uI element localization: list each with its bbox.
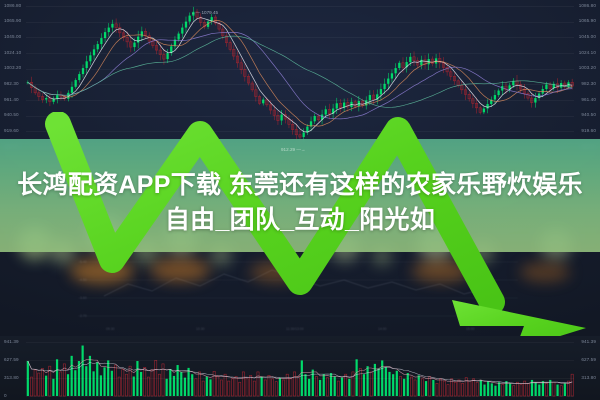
volume-bar [52, 379, 54, 396]
volume-bar [209, 379, 211, 396]
gridline [26, 22, 574, 23]
headline-line-1: 长鸿配资APP下载 东莞还有这样的农家乐野炊娱乐 [17, 171, 583, 199]
candle-body [497, 91, 499, 95]
volume-bar [187, 368, 189, 396]
price-tick-right: 1065.90 [579, 19, 596, 24]
gridline [26, 116, 574, 117]
volume-bar [114, 365, 116, 396]
volume-bar [366, 366, 368, 396]
volume-bar [319, 380, 321, 396]
candle-body [111, 24, 113, 28]
candle-body [380, 89, 382, 94]
volume-bar [509, 383, 511, 396]
price-tick-right: 1086.80 [579, 4, 596, 9]
svg-text:15:00: 15:00 [466, 327, 475, 331]
svg-text:09:30: 09:30 [106, 327, 115, 331]
page-title: 长鸿配资APP下载 东莞还有这样的农家乐野炊娱乐 自由_团队_互动_阳光如 [0, 168, 600, 238]
price-tick-left: 982.30 [4, 82, 19, 87]
volume-bar [275, 382, 277, 396]
volume-tick-left: 313.80 [4, 376, 19, 381]
gridline [26, 360, 574, 361]
price-tick-left: 1086.80 [4, 4, 21, 9]
price-tick-right: 1024.10 [579, 51, 596, 56]
volume-bar [253, 381, 255, 396]
volume-tick-right: 313.80 [581, 376, 596, 381]
volume-bar [337, 381, 339, 396]
volume-bar [458, 380, 460, 396]
volume-tick-left: 627.59 [4, 358, 19, 363]
price-tick-right: 940.50 [581, 113, 596, 118]
volume-ma-line [28, 361, 572, 383]
volume-bar [494, 386, 496, 396]
bokeh-blob [70, 258, 134, 284]
price-tick-left: 1065.90 [4, 19, 21, 24]
volume-bar [242, 372, 244, 396]
volume-bar [231, 379, 233, 396]
volume-bar [385, 367, 387, 396]
volume-bar [348, 379, 350, 396]
volume-bar [38, 373, 40, 396]
volume-bar [206, 376, 208, 396]
volume-bar [436, 383, 438, 396]
volume-bar [440, 379, 442, 396]
gridline [26, 396, 574, 397]
volume-bar [410, 377, 412, 396]
volume-bar [527, 383, 529, 396]
gridline [26, 342, 574, 343]
svg-text:11:30/13:00: 11:30/13:00 [286, 327, 304, 331]
volume-bar [118, 377, 120, 396]
volume-bar [476, 382, 478, 396]
volume-bar [151, 370, 153, 396]
volume-bar [407, 373, 409, 396]
price-tick-left: 1024.10 [4, 51, 21, 56]
volume-bar [469, 381, 471, 396]
volume-bar [177, 365, 179, 396]
volume-ma-line [28, 360, 572, 384]
moving-average-line [28, 21, 572, 127]
volume-bar [202, 381, 204, 396]
volume-bar [144, 367, 146, 396]
volume-bar [103, 367, 105, 396]
volume-bar [498, 382, 500, 396]
gridline [26, 100, 574, 101]
candle-body [486, 104, 488, 108]
volume-bar [60, 372, 62, 396]
volume-bar [538, 385, 540, 396]
volume-bar [399, 376, 401, 396]
volume-bar [261, 376, 263, 396]
svg-text:2.70: 2.70 [80, 314, 87, 318]
candle-body [391, 73, 393, 78]
volume-bar [308, 379, 310, 396]
candle-body [133, 43, 135, 47]
headline-line-2: 自由_团队_互动_阳光如 [0, 203, 600, 238]
volume-bar [315, 376, 317, 396]
screenshot-root: 1086.801065.901045.001024.101003.20982.3… [0, 0, 600, 400]
volume-bar [293, 372, 295, 396]
price-tick-right: 1045.00 [579, 35, 596, 40]
candle-body [494, 95, 496, 99]
candle-body [100, 38, 102, 44]
svg-text:3.60: 3.60 [80, 296, 87, 300]
gridline [26, 37, 574, 38]
volume-bar [513, 386, 515, 396]
volume-bar [264, 380, 266, 396]
moving-average-line [28, 36, 572, 107]
annotation-low: 912.29 —→ [281, 148, 306, 153]
candle-body [97, 44, 99, 49]
gridline [26, 6, 574, 7]
candle-body [181, 28, 183, 34]
volume-bar [403, 379, 405, 396]
volume-tick-left: 0 [4, 394, 7, 399]
price-tick-left: 1045.00 [4, 35, 21, 40]
candle-body [89, 55, 91, 61]
volume-bar [312, 370, 314, 396]
volume-bar [520, 385, 522, 396]
volume-bar [425, 381, 427, 396]
volume-tick-left: 941.39 [4, 340, 19, 345]
volume-bar [472, 379, 474, 396]
volume-bar [429, 376, 431, 396]
volume-bar [279, 378, 281, 396]
volume-bar [560, 386, 562, 396]
price-tick-right: 982.30 [581, 82, 596, 87]
volume-bar [133, 376, 135, 396]
volume-bar [34, 370, 36, 396]
volume-chart-panel: 941.39627.59313.800 941.39627.59313.80 [0, 336, 600, 400]
volume-bar [195, 379, 197, 396]
volume-bar [272, 379, 274, 396]
volume-bar [290, 379, 292, 396]
price-tick-right: 1003.20 [579, 66, 596, 71]
annotation-high: ←— 1079.45 [191, 11, 218, 16]
volume-bar [480, 380, 482, 396]
volume-bar [30, 377, 32, 396]
volume-bar [447, 385, 449, 396]
volume-bar [180, 372, 182, 396]
volume-bar [388, 372, 390, 396]
candle-body [78, 74, 80, 80]
volume-bar [535, 382, 537, 396]
candle-body [71, 87, 73, 93]
volume-bar [82, 346, 84, 396]
volume-bar [443, 381, 445, 396]
volume-bar [553, 382, 555, 396]
volume-bar [334, 376, 336, 396]
candle-body [141, 31, 143, 36]
volume-bar [414, 380, 416, 396]
volume-bar [220, 380, 222, 396]
volume-bar [166, 379, 168, 396]
price-chart-panel: 1086.801065.901045.001024.101003.20982.3… [0, 0, 600, 155]
volume-bar [491, 383, 493, 396]
volume-bar [564, 383, 566, 396]
volume-bar [235, 376, 237, 396]
volume-bar [396, 371, 398, 396]
volume-bar [140, 372, 142, 396]
bokeh-blob [412, 260, 470, 282]
candle-body [314, 116, 316, 121]
candle-body [336, 103, 338, 108]
volume-bar [359, 368, 361, 396]
volume-bar [556, 385, 558, 396]
volume-tick-right: 941.39 [581, 340, 596, 345]
volume-bar [246, 379, 248, 396]
volume-bar [89, 356, 91, 396]
volume-bar [542, 381, 544, 396]
volume-bar [92, 371, 94, 396]
bokeh-blob [520, 262, 570, 282]
candle-body [325, 109, 327, 114]
volume-bar [96, 362, 98, 396]
volume-bar [74, 370, 76, 396]
volume-bar [71, 356, 73, 396]
volume-bar-series [0, 336, 600, 400]
volume-bar [228, 381, 230, 396]
candle-body [398, 63, 400, 68]
candle-body [86, 61, 88, 68]
volume-bar [487, 381, 489, 396]
volume-bar [516, 382, 518, 396]
volume-bar [483, 385, 485, 396]
volume-bar [297, 376, 299, 396]
volume-bar [282, 380, 284, 396]
price-tick-left: 961.40 [4, 98, 19, 103]
volume-bar [198, 372, 200, 396]
candle-body [409, 57, 411, 62]
bokeh-blob [250, 262, 304, 282]
volume-bar [326, 378, 328, 396]
volume-bar [147, 377, 149, 396]
volume-bar [184, 378, 186, 396]
price-tick-right: 961.40 [581, 98, 596, 103]
volume-tick-right: 627.59 [581, 358, 596, 363]
svg-text:14:00: 14:00 [378, 327, 387, 331]
volume-bar [41, 368, 43, 396]
volume-bar [122, 370, 124, 396]
volume-bar [341, 378, 343, 396]
price-tick-left: 1003.20 [4, 66, 21, 71]
price-tick-left: 919.60 [4, 129, 19, 134]
volume-bar [502, 385, 504, 396]
volume-bar [461, 383, 463, 396]
volume-bar [432, 380, 434, 396]
gridline [26, 69, 574, 70]
volume-bar [239, 382, 241, 396]
candle-body [387, 79, 389, 84]
gridline [26, 378, 574, 379]
volume-bar [377, 368, 379, 396]
bokeh-blob [150, 258, 210, 282]
gridline [26, 53, 574, 54]
gridline [26, 131, 574, 132]
volume-bar [169, 369, 171, 396]
gridline [26, 84, 574, 85]
candle-body [108, 28, 110, 32]
volume-bar [85, 366, 87, 396]
candle-body [303, 133, 305, 137]
volume-bar [370, 372, 372, 396]
volume-bar [546, 383, 548, 396]
volume-bar [454, 382, 456, 396]
svg-text:10:30: 10:30 [196, 327, 205, 331]
volume-bar [111, 371, 113, 396]
candle-body [483, 109, 485, 113]
volume-bar [421, 379, 423, 396]
price-tick-left: 940.50 [4, 113, 19, 118]
price-tick-right: 919.60 [581, 129, 596, 134]
